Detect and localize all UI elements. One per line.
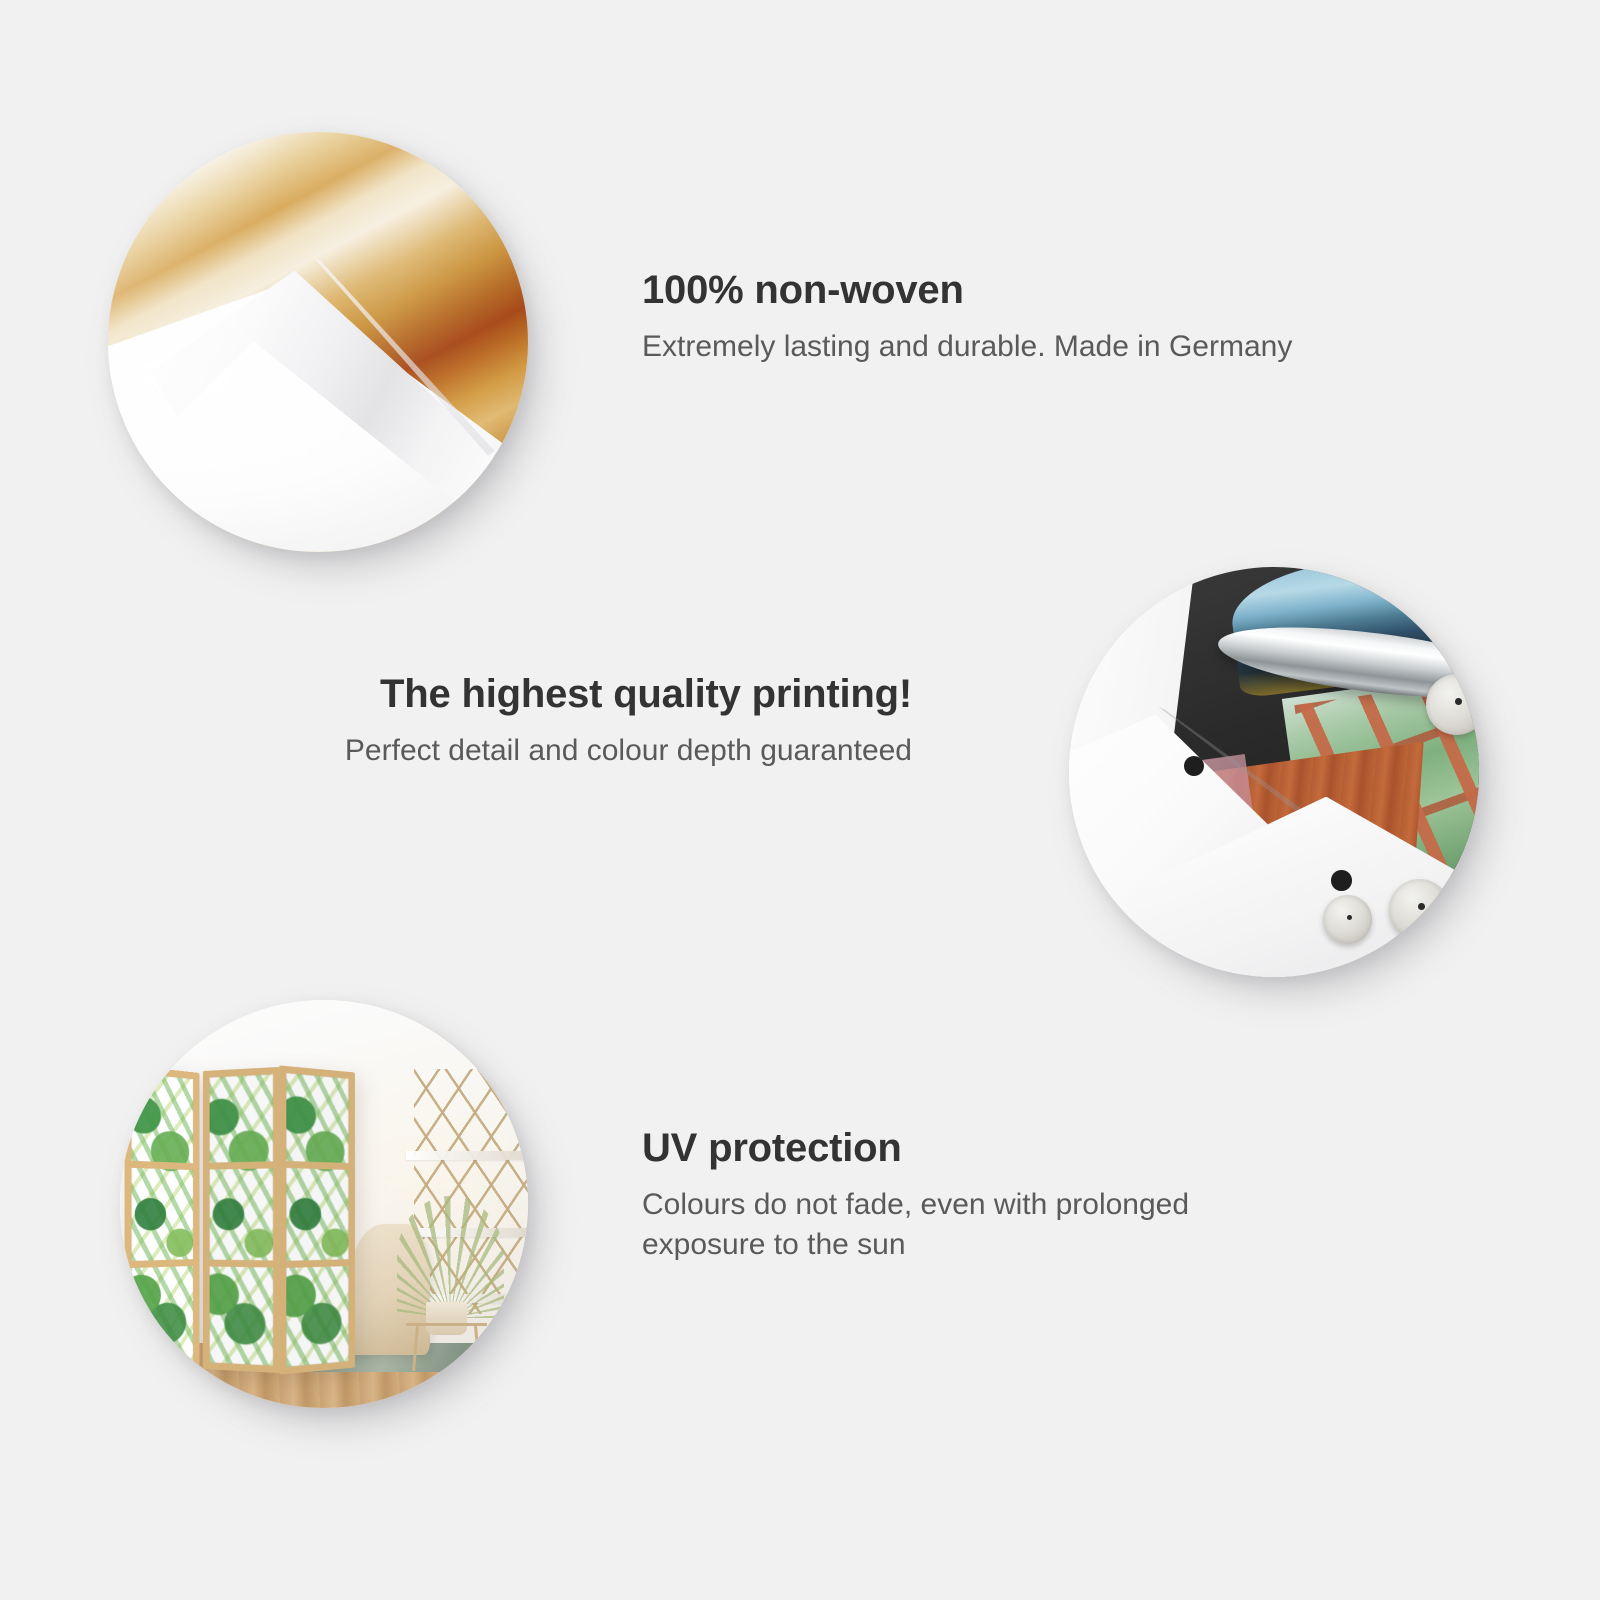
feature-description-uv-protection: Colours do not fade, even with prolonged… <box>642 1185 1262 1265</box>
palm-plant <box>397 1196 503 1318</box>
roller-end-cap <box>1389 879 1451 941</box>
feature-title-non-woven: 100% non-woven <box>642 268 1322 313</box>
feature-text-printing: The highest quality printing! Perfect de… <box>262 672 912 771</box>
divider-panel <box>279 1066 354 1375</box>
feature-image-uv-protection <box>120 1000 528 1408</box>
press-knob <box>1331 870 1352 891</box>
shelf-board <box>406 1151 528 1160</box>
feature-text-non-woven: 100% non-woven Extremely lasting and dur… <box>642 268 1322 367</box>
feature-image-non-woven <box>108 132 528 552</box>
divider-panel <box>202 1067 279 1373</box>
room-divider-screen <box>124 1069 357 1371</box>
feature-description-printing: Perfect detail and colour depth guarante… <box>262 731 912 771</box>
feature-text-uv-protection: UV protection Colours do not fade, even … <box>642 1126 1262 1265</box>
feature-description-non-woven: Extremely lasting and durable. Made in G… <box>642 327 1322 367</box>
feature-title-uv-protection: UV protection <box>642 1126 1262 1171</box>
printing-press-illustration <box>1069 567 1479 977</box>
feature-image-printing <box>1069 567 1479 977</box>
feature-infographic: 100% non-woven Extremely lasting and dur… <box>0 0 1600 1600</box>
side-table <box>406 1323 488 1371</box>
divider-panel <box>125 1065 200 1375</box>
feature-title-printing: The highest quality printing! <box>262 672 912 717</box>
interior-room-illustration <box>120 1000 528 1408</box>
wallpaper-peel-illustration <box>108 132 528 552</box>
